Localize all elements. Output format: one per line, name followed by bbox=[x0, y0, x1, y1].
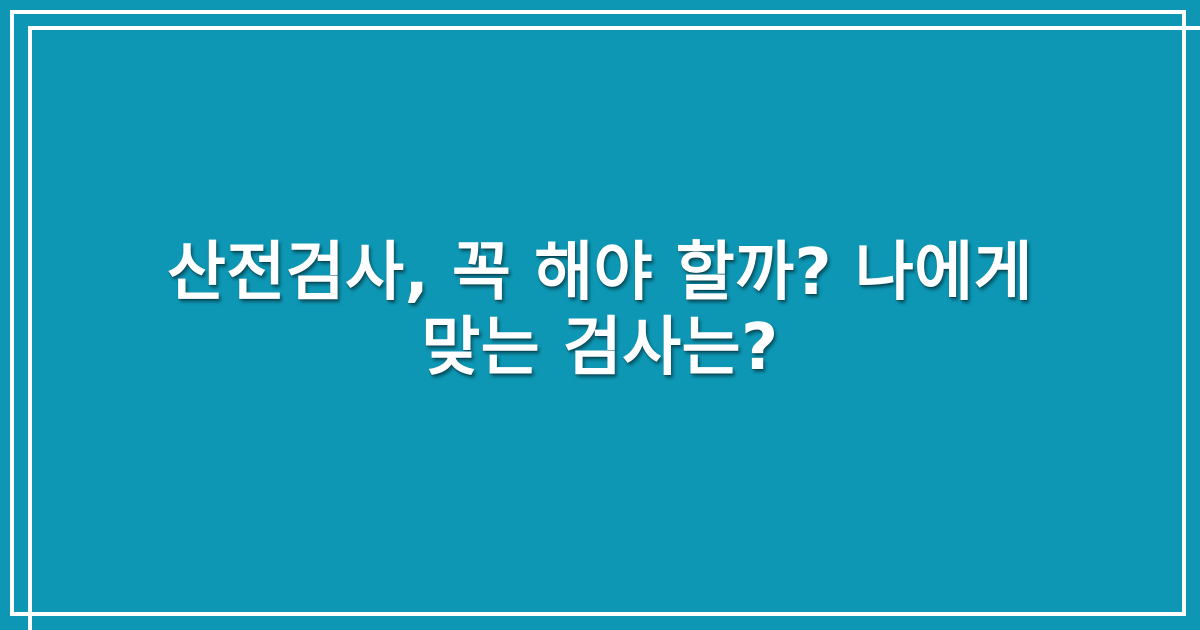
banner-card: 산전검사, 꼭 해야 할까? 나에게 맞는 검사는? bbox=[0, 0, 1200, 630]
title-block: 산전검사, 꼭 해야 할까? 나에게 맞는 검사는? bbox=[0, 0, 1200, 630]
banner-title: 산전검사, 꼭 해야 할까? 나에게 맞는 검사는? bbox=[150, 236, 1050, 386]
